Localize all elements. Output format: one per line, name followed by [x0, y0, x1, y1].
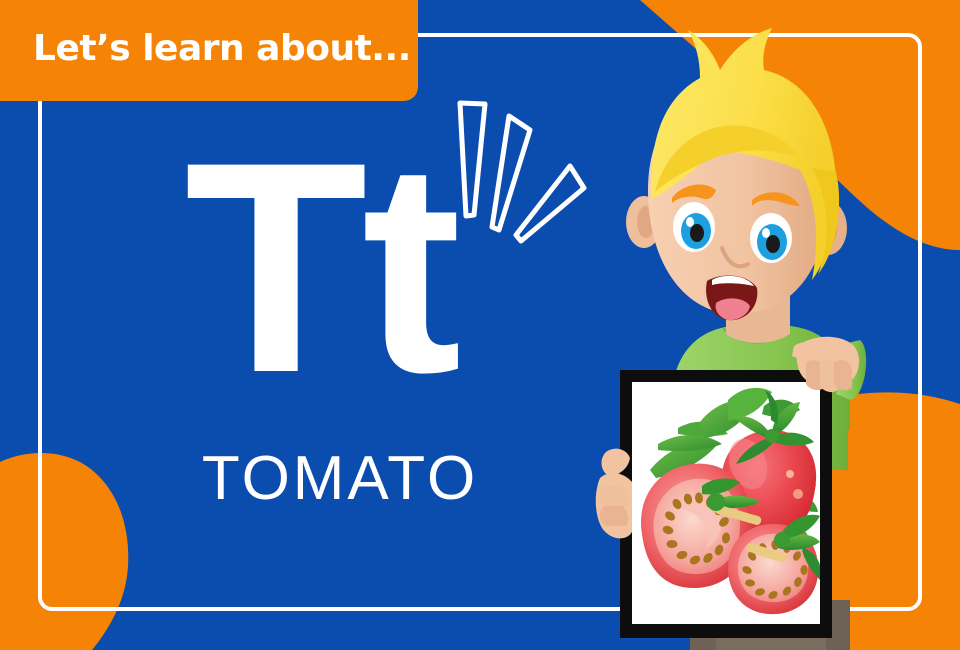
boy-hand-left	[0, 0, 960, 650]
hand-left-thumb	[602, 449, 631, 475]
flashcard-canvas: Let’s learn about... Tt TOMATO	[0, 0, 960, 650]
